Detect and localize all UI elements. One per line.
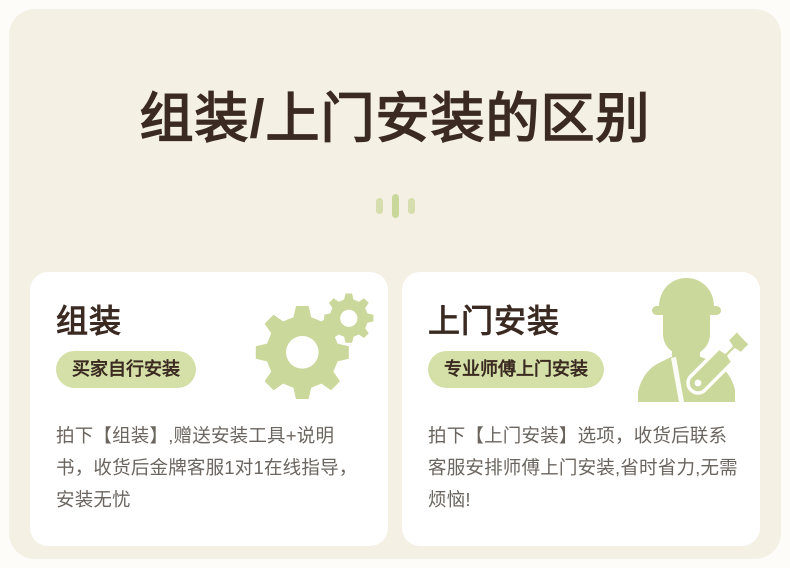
card-badge: 买家自行安装 bbox=[56, 351, 196, 388]
card-header-self-assembly: 组装 买家自行安装 bbox=[56, 304, 196, 388]
divider-bar-center bbox=[392, 194, 399, 218]
card-header-door-to-door-installation: 上门安装 专业师傅上门安装 bbox=[428, 304, 604, 388]
card-self-assembly: 组装 买家自行安装 拍下【组装】,赠送安装工具+说明书，收货后金牌客服1对1在线… bbox=[30, 272, 388, 546]
page-title-container: 组装/上门安装的区别 bbox=[0, 88, 790, 150]
card-description: 拍下【上门安装】选项，收货后联系客服安排师傅上门安装,省时省力,无需烦恼! bbox=[428, 420, 738, 515]
card-title: 组装 bbox=[56, 304, 196, 339]
three-bars-divider-icon bbox=[0, 193, 790, 219]
card-description: 拍下【组装】,赠送安装工具+说明书，收货后金牌客服1对1在线指导，安装无忧 bbox=[56, 420, 366, 515]
worker-with-wrench-icon bbox=[619, 274, 754, 402]
comparison-cards: 组装 买家自行安装 拍下【组装】,赠送安装工具+说明书，收货后金牌客服1对1在线… bbox=[30, 272, 760, 546]
card-badge: 专业师傅上门安装 bbox=[428, 351, 604, 388]
page-title: 组装/上门安装的区别 bbox=[139, 88, 650, 150]
divider-bar-left bbox=[376, 198, 383, 214]
gears-icon bbox=[248, 280, 378, 400]
card-door-to-door-installation: 上门安装 专业师傅上门安装 拍下【上门安装】选项，收货后联系客服安排师傅上门安装… bbox=[402, 272, 760, 546]
card-title: 上门安装 bbox=[428, 304, 604, 339]
divider-bar-right bbox=[408, 198, 415, 214]
promo-banner: 组装/上门安装的区别 bbox=[0, 0, 790, 568]
